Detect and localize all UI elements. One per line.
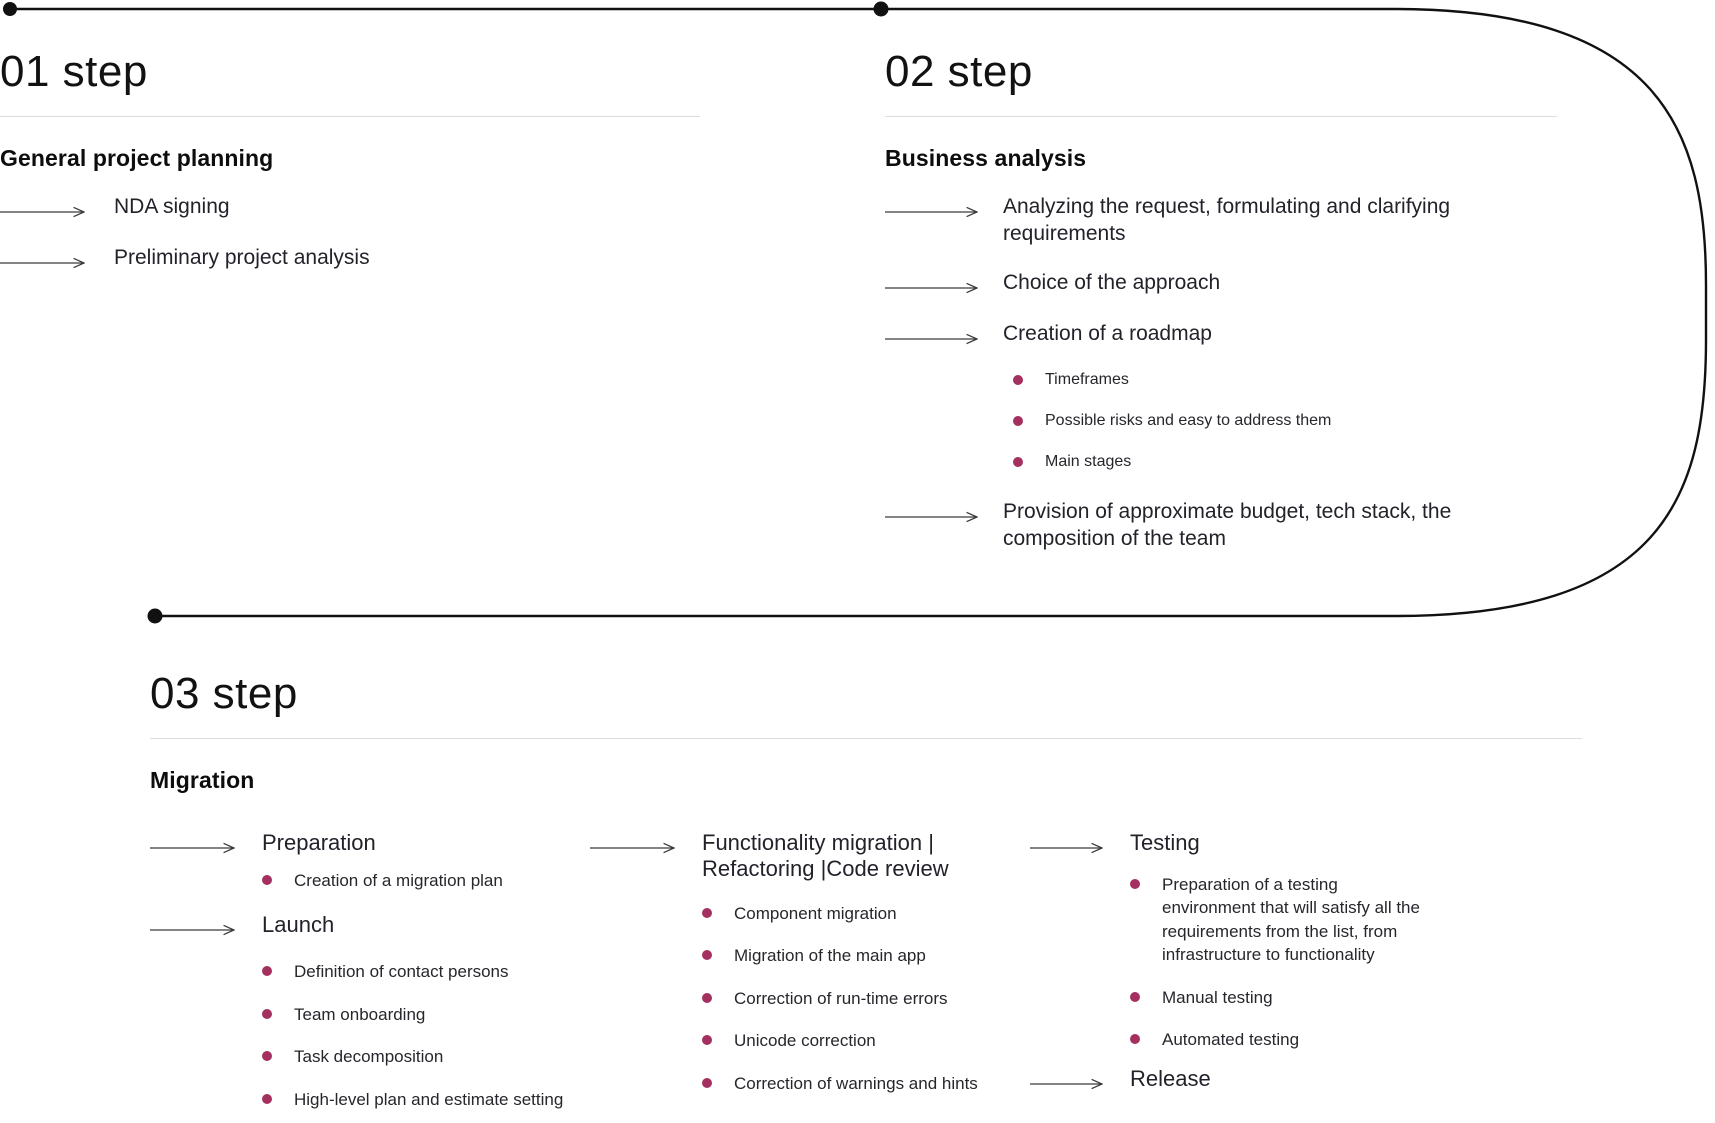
arrow-right-icon xyxy=(885,205,985,223)
bullet-dot-icon xyxy=(262,1009,272,1019)
bullet-dot-icon xyxy=(702,950,712,960)
list-item: Definition of contact persons xyxy=(262,960,590,983)
bullet-dot-icon xyxy=(1013,457,1023,467)
arrow-row[interactable]: Launch xyxy=(150,912,590,941)
bullet-dot-icon xyxy=(702,1078,712,1088)
step-title-02: 02 step xyxy=(885,50,1557,94)
list-item: Migration of the main app xyxy=(702,944,1030,967)
arrow-row[interactable]: Functionality migration | Refactoring |C… xyxy=(590,830,1030,883)
list-item: Manual testing xyxy=(1130,986,1480,1009)
arrow-label: Testing xyxy=(1130,830,1200,856)
bullet-dot-icon xyxy=(262,1094,272,1104)
bullet-label: Component migration xyxy=(734,902,897,925)
arrow-row[interactable]: Provision of approximate budget, tech st… xyxy=(885,499,1557,553)
bullet-label: Possible risks and easy to address them xyxy=(1045,410,1331,432)
arrow-label: Choice of the approach xyxy=(1003,270,1220,297)
arrow-right-icon xyxy=(885,332,985,350)
arrow-row[interactable]: Preparation xyxy=(150,830,590,859)
step-divider-02 xyxy=(885,116,1557,117)
bullet-label: Definition of contact persons xyxy=(294,960,509,983)
step-divider-03 xyxy=(150,738,1582,739)
arrow-right-icon xyxy=(1030,1077,1110,1095)
arrow-right-icon xyxy=(0,256,92,274)
sub-bullet-list: Definition of contact persons Team onboa… xyxy=(262,960,590,1111)
list-item: Automated testing xyxy=(1130,1028,1480,1051)
bullet-label: Migration of the main app xyxy=(734,944,926,967)
sub-bullet-list: Component migration Migration of the mai… xyxy=(702,902,1030,1095)
bullet-label: Unicode correction xyxy=(734,1029,876,1052)
infographic-root: 01 step General project planning NDA sig… xyxy=(0,0,1715,1123)
list-item: Component migration xyxy=(702,902,1030,925)
arrow-right-icon xyxy=(1030,841,1110,859)
bullet-label: High-level plan and estimate setting xyxy=(294,1088,563,1111)
bullet-dot-icon xyxy=(1130,1034,1140,1044)
bullet-label: Correction of run-time errors xyxy=(734,987,948,1010)
migration-column-1: Preparation Creation of a migration plan… xyxy=(150,808,590,1111)
timeline-start-dot xyxy=(3,2,17,16)
migration-column-2: Functionality migration | Refactoring |C… xyxy=(590,808,1030,1111)
step-divider-01 xyxy=(0,116,700,117)
sub-bullet-list: Creation of a migration plan xyxy=(262,869,590,892)
timeline-row2-dot xyxy=(148,609,163,624)
step-block-03: 03 step Migration Preparation Crea xyxy=(150,672,1582,1111)
arrow-label: Analyzing the request, formulating and c… xyxy=(1003,194,1551,248)
bullet-dot-icon xyxy=(702,993,712,1003)
arrow-row[interactable]: Choice of the approach xyxy=(885,270,1557,299)
step-title-03: 03 step xyxy=(150,672,1582,716)
list-item: Correction of run-time errors xyxy=(702,987,1030,1010)
arrow-label: Provision of approximate budget, tech st… xyxy=(1003,499,1551,553)
list-item: Timeframes xyxy=(1013,369,1557,391)
bullet-dot-icon xyxy=(1013,416,1023,426)
bullet-label: Timeframes xyxy=(1045,369,1129,391)
arrow-row[interactable]: Testing xyxy=(1030,830,1480,859)
arrow-right-icon xyxy=(885,510,985,528)
step-subtitle-01: General project planning xyxy=(0,145,700,172)
bullet-label: Preparation of a testing environment tha… xyxy=(1162,873,1424,967)
arrow-row[interactable]: NDA signing xyxy=(0,194,700,223)
bullet-label: Automated testing xyxy=(1162,1028,1299,1051)
arrow-row[interactable]: Analyzing the request, formulating and c… xyxy=(885,194,1557,248)
bullet-label: Manual testing xyxy=(1162,986,1273,1009)
list-item: Correction of warnings and hints xyxy=(702,1072,1030,1095)
arrow-label: NDA signing xyxy=(114,194,230,221)
list-item: Preparation of a testing environment tha… xyxy=(1130,873,1480,967)
step-subtitle-03: Migration xyxy=(150,767,1582,794)
bullet-label: Task decomposition xyxy=(294,1045,443,1068)
arrow-label: Creation of a roadmap xyxy=(1003,321,1212,348)
list-item: Possible risks and easy to address them xyxy=(1013,410,1557,432)
bullet-label: Main stages xyxy=(1045,451,1131,473)
arrow-row[interactable]: Creation of a roadmap xyxy=(885,321,1557,350)
arrow-right-icon xyxy=(150,923,242,941)
bullet-dot-icon xyxy=(702,1035,712,1045)
arrow-right-icon xyxy=(590,841,682,859)
list-item: Task decomposition xyxy=(262,1045,590,1068)
list-item: Main stages xyxy=(1013,451,1557,473)
arrow-label: Launch xyxy=(262,912,334,938)
arrow-label: Preliminary project analysis xyxy=(114,245,370,272)
step-subtitle-02: Business analysis xyxy=(885,145,1557,172)
step-title-01: 01 step xyxy=(0,50,700,94)
sub-bullet-list: Preparation of a testing environment tha… xyxy=(1130,873,1480,1052)
arrow-right-icon xyxy=(150,841,242,859)
arrow-label: Preparation xyxy=(262,830,376,856)
list-item: High-level plan and estimate setting xyxy=(262,1088,590,1111)
bullet-label: Creation of a migration plan xyxy=(294,869,503,892)
sub-bullet-list: Timeframes Possible risks and easy to ad… xyxy=(1013,369,1557,473)
step-block-01: 01 step General project planning NDA sig… xyxy=(0,50,700,274)
bullet-label: Correction of warnings and hints xyxy=(734,1072,978,1095)
list-item: Unicode correction xyxy=(702,1029,1030,1052)
step-block-02: 02 step Business analysis Analyzing the … xyxy=(885,50,1557,553)
migration-column-3: Testing Preparation of a testing environ… xyxy=(1030,808,1480,1111)
arrow-label: Release xyxy=(1130,1066,1211,1092)
bullet-label: Team onboarding xyxy=(294,1003,425,1026)
bullet-dot-icon xyxy=(262,966,272,976)
migration-columns: Preparation Creation of a migration plan… xyxy=(150,808,1582,1111)
arrow-label: Functionality migration | Refactoring |C… xyxy=(702,830,982,883)
timeline-mid-dot xyxy=(874,2,889,17)
arrow-row[interactable]: Release xyxy=(1030,1066,1480,1095)
arrow-right-icon xyxy=(885,281,985,299)
arrow-row[interactable]: Preliminary project analysis xyxy=(0,245,700,274)
bullet-dot-icon xyxy=(262,1051,272,1061)
list-item: Creation of a migration plan xyxy=(262,869,590,892)
bullet-dot-icon xyxy=(1130,992,1140,1002)
bullet-dot-icon xyxy=(1013,375,1023,385)
list-item: Team onboarding xyxy=(262,1003,590,1026)
bullet-dot-icon xyxy=(262,875,272,885)
bullet-dot-icon xyxy=(702,908,712,918)
bullet-dot-icon xyxy=(1130,879,1140,889)
arrow-right-icon xyxy=(0,205,92,223)
